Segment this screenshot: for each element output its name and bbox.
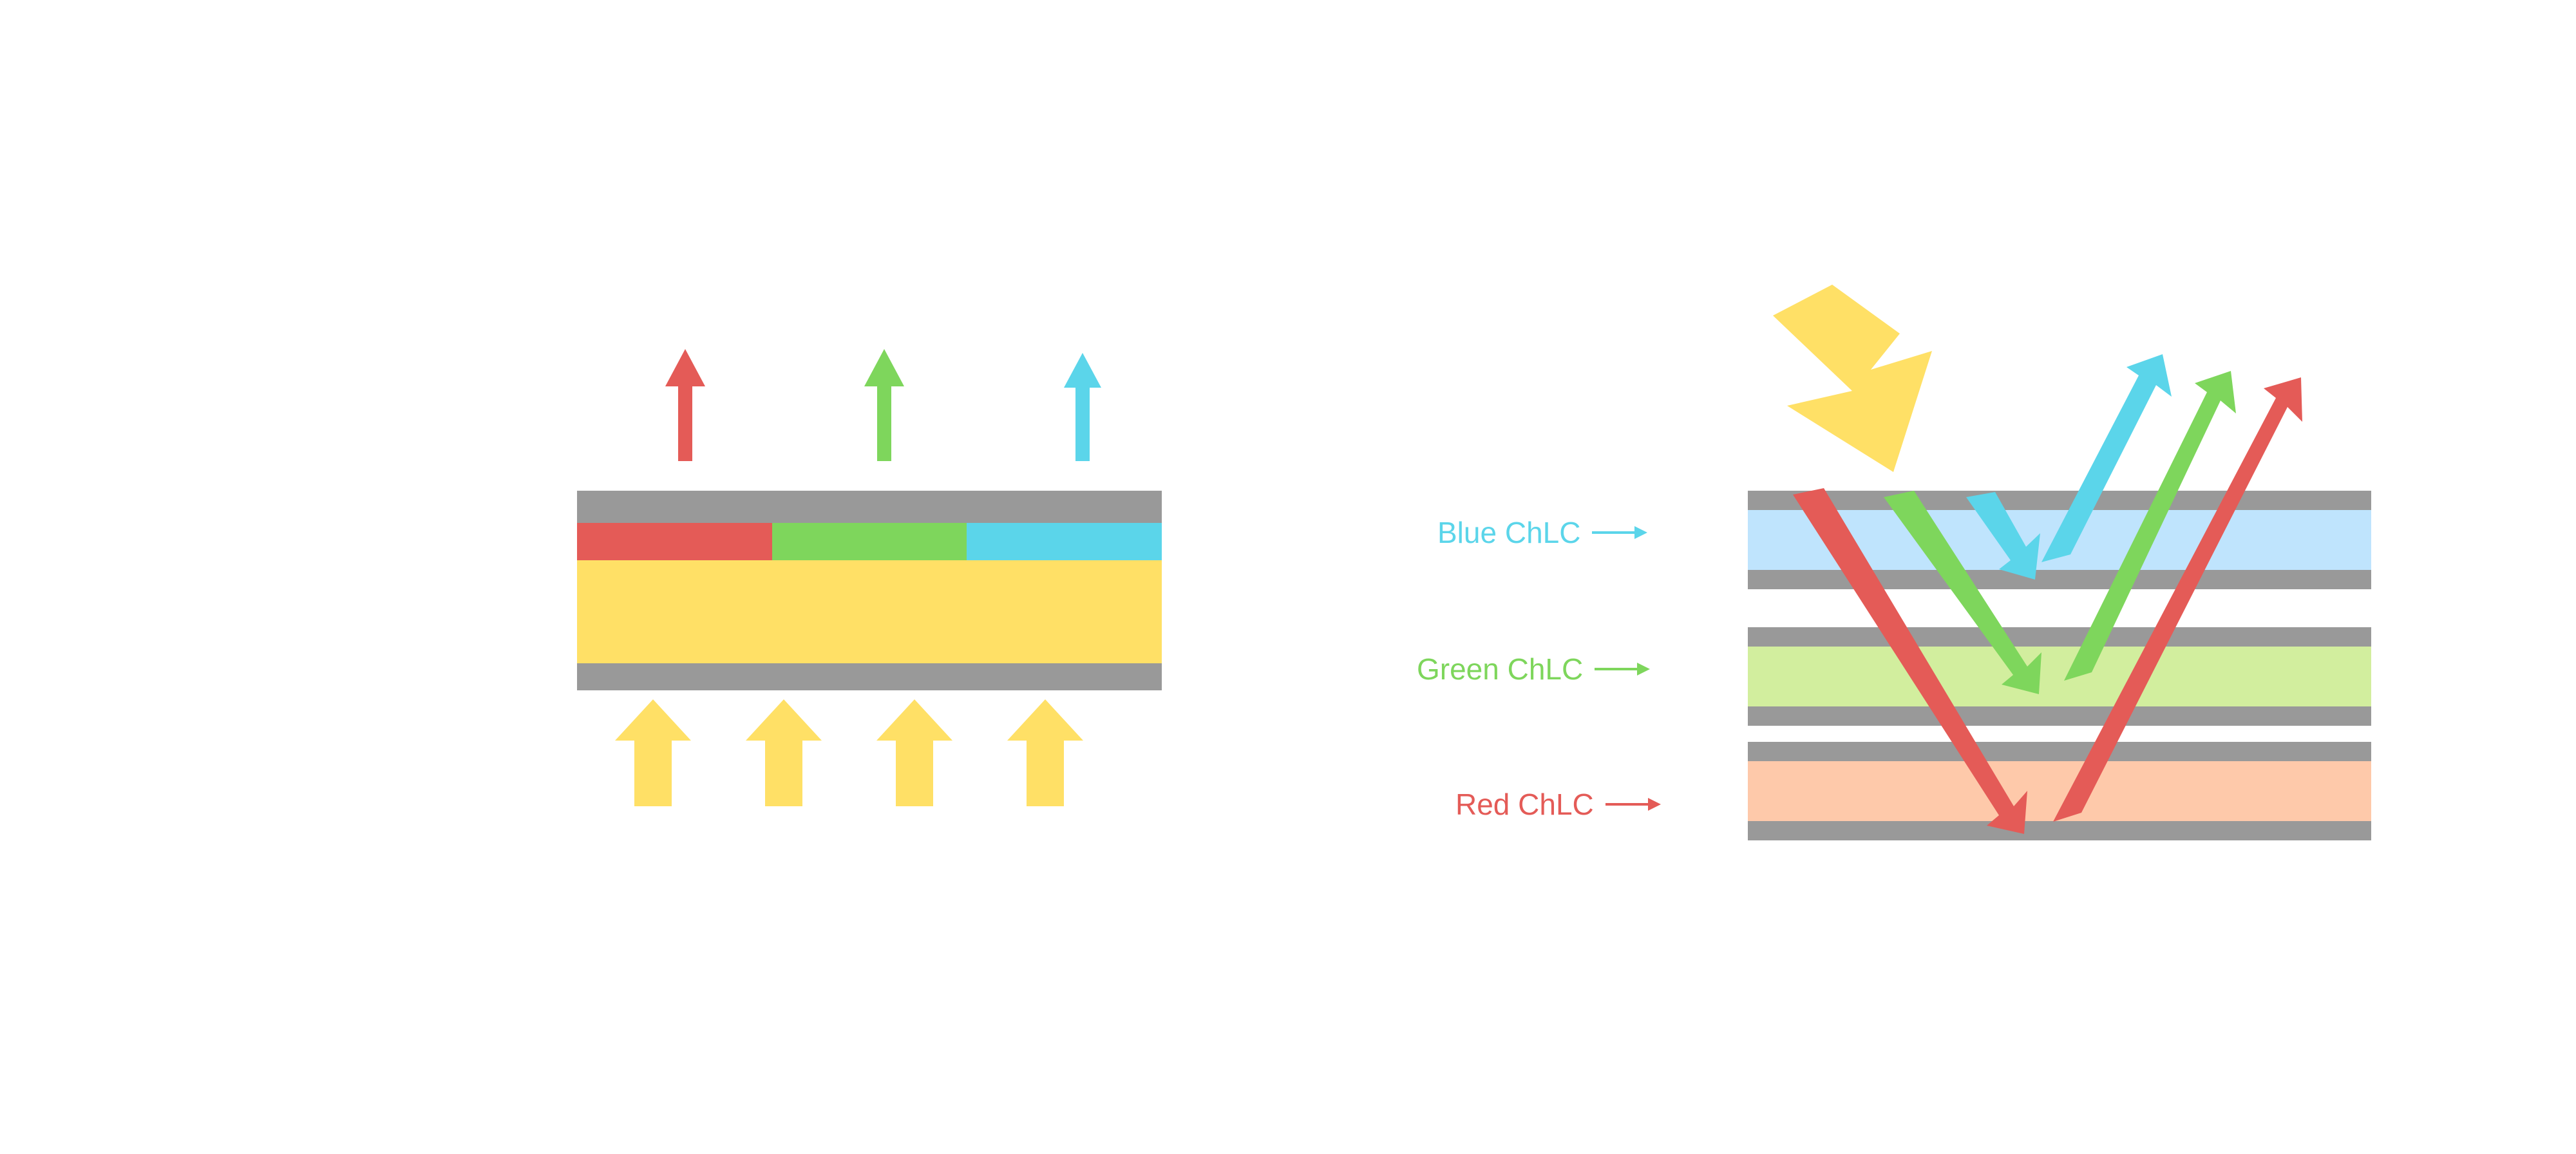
blue-chlc-label: Blue ChLC [1437, 518, 1580, 547]
red-chlc-label: Red ChLC [1455, 790, 1594, 819]
blue-ray-in [1966, 492, 2040, 580]
incident-white-light-ray [1773, 285, 1932, 472]
red-ray-out [2053, 377, 2302, 822]
blue-chlc-label-row: Blue ChLC [1437, 518, 1647, 547]
blue-chlc-pointer-icon [1592, 531, 1647, 534]
red-ray-in [1793, 488, 2027, 834]
red-chlc-label-row: Red ChLC [1455, 790, 1661, 819]
green-chlc-label: Green ChLC [1417, 654, 1583, 684]
right-diagram-rays [0, 0, 2576, 1154]
diagram-canvas: Blue ChLC Green ChLC Red ChLC [0, 0, 2576, 1154]
green-chlc-label-row: Green ChLC [1417, 654, 1650, 684]
red-chlc-pointer-icon [1605, 803, 1661, 806]
green-chlc-pointer-icon [1595, 668, 1650, 670]
